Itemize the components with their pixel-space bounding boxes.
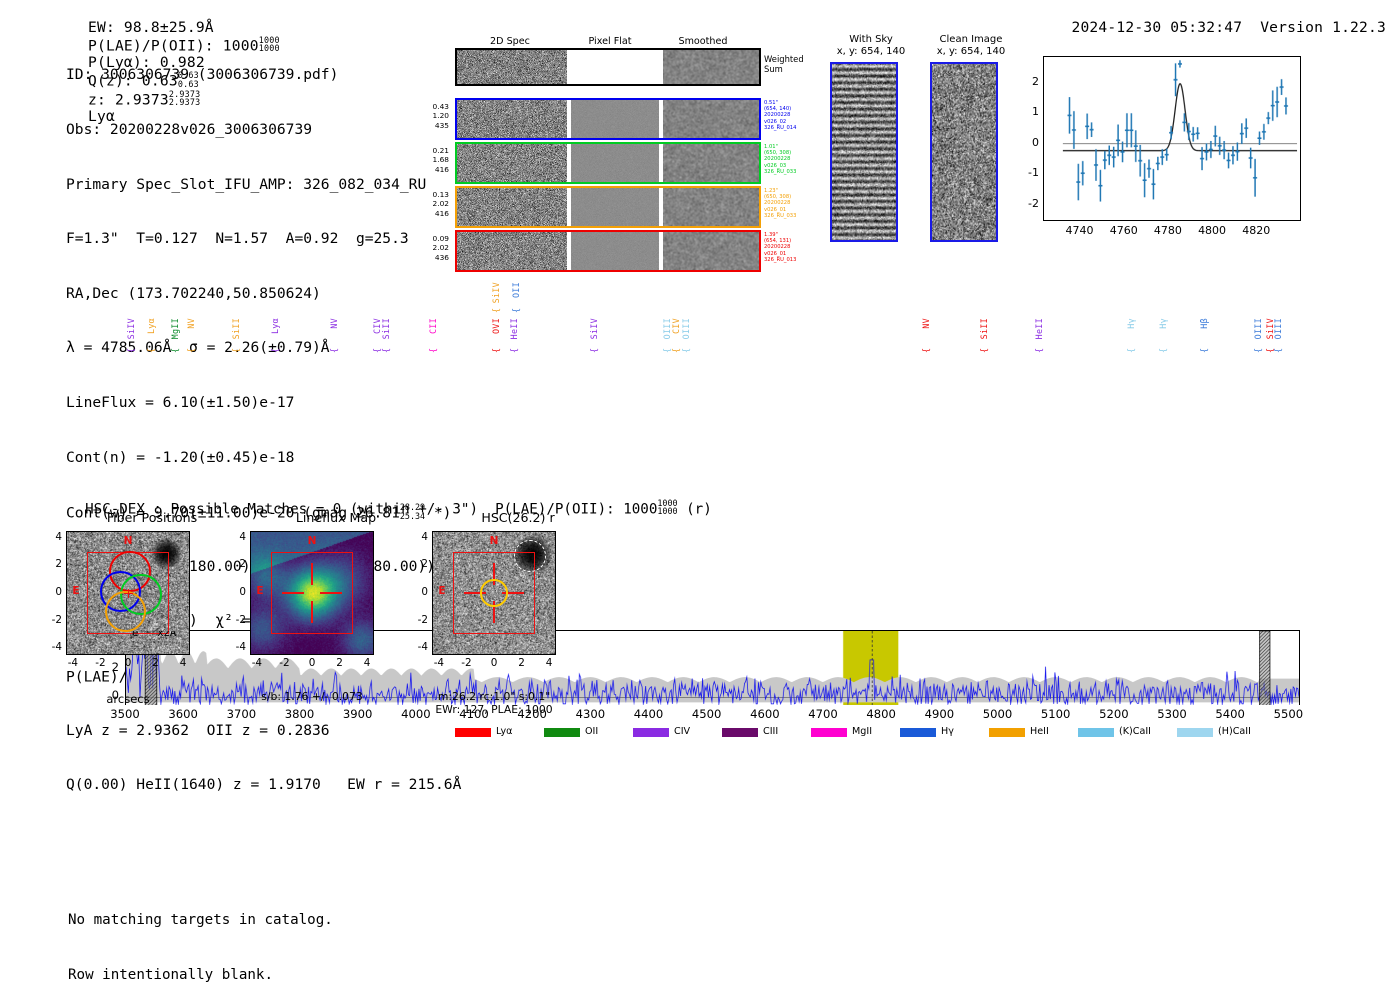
full-spectrum-x-tick: 3700 [213, 707, 269, 721]
map-y-tick: -2 [42, 614, 62, 626]
emission-line-label-siii: SiII [231, 318, 241, 339]
line-fit-y-tick: -2 [1021, 197, 1039, 210]
full-spectrum-x-tick: 4800 [853, 707, 909, 721]
spec2d-smoothed-image [663, 144, 759, 182]
emission-line-label-heii: HeII [509, 318, 519, 339]
emission-line-label-siii: SiII [381, 318, 391, 339]
map-caption-lineflux: s/b: 1.76 +/- 0.073 [232, 690, 392, 703]
line-fit-plot: e⁻¹⁷x2Å [1043, 56, 1301, 221]
full-spectrum-x-tick: 5300 [1144, 707, 1200, 721]
line-fit-y-tick: 1 [1021, 105, 1039, 118]
footer-block: No matching targets in catalog. Row inte… [68, 874, 333, 1003]
footer-line-1: No matching targets in catalog. [68, 911, 333, 929]
emission-line-bracket: { [329, 348, 339, 353]
full-spectrum-x-tick: 4600 [737, 707, 793, 721]
spec2d-fiber-row [455, 230, 761, 272]
map-y-tick: -4 [42, 641, 62, 653]
info-primary: Primary Spec_Slot_IFU_AMP: 326_082_034_R… [66, 176, 461, 194]
emission-line-label-lyα: Lyα [270, 318, 280, 334]
legend-label-civ: CIV [674, 726, 690, 737]
line-fit-x-tick: 4740 [1062, 224, 1098, 237]
emission-line-bracket: { [1253, 348, 1263, 353]
line-fit-x-tick: 4820 [1238, 224, 1274, 237]
legend-label-oii: OII [585, 726, 598, 737]
spec2d-panel: 2D Spec Pixel Flat Smoothed Weighted Sum… [455, 36, 765, 251]
map-lineflux: Lineflux Map [246, 510, 426, 525]
line-fit-y-tick: 2 [1021, 75, 1039, 88]
spec2d-col-title-2dspec: 2D Spec [455, 36, 565, 47]
full-spectrum-x-tick: 3800 [272, 707, 328, 721]
emission-line-label-heii: HeII [1034, 318, 1044, 339]
map-title-lineflux: Lineflux Map [246, 510, 426, 525]
full-spectrum-x-tick: 5100 [1028, 707, 1084, 721]
legend-label-heii: HeII [1030, 726, 1049, 737]
hscdex-fraction: 10001000 [657, 499, 677, 516]
emission-line-label-mgii: MgII [170, 318, 180, 339]
line-fit-y-tick: -1 [1021, 166, 1039, 179]
header-timestamp-version: 2024-12-30 05:32:47 Version 1.22.3 [1053, 2, 1386, 36]
legend-swatch-hcaii [1177, 728, 1213, 737]
spec2d-2dspec-image [457, 232, 567, 270]
full-spectrum-x-tick: 4500 [679, 707, 735, 721]
header-version: Version 1.22.3 [1260, 19, 1386, 36]
emission-line-bracket: { [511, 308, 521, 313]
spec2d-flat-grey [571, 144, 659, 182]
legend-swatch-oii [544, 728, 580, 737]
legend-swatch-mgii [811, 728, 847, 737]
full-spectrum-x-tick: 5000 [970, 707, 1026, 721]
emission-line-bracket: { [681, 348, 691, 353]
cutout-title-clean-image: Clean Image [928, 34, 1014, 46]
info-id: ID: 3006306739 (3006306739.pdf) [66, 66, 461, 84]
legend-label-kcaii: (K)CaII [1119, 726, 1151, 737]
emission-line-label-nv: NV [329, 318, 339, 329]
legend-label-hcaii: (H)CaII [1218, 726, 1251, 737]
map-hsc: HSC(26.2) r [428, 510, 608, 525]
footer-line-2: Row intentionally blank. [68, 966, 333, 984]
emission-line-label-ovi: OVI [491, 318, 501, 334]
spec2d-row-left-values: 0.43 1.20 435 [413, 102, 449, 130]
full-spectrum-plot: SiIV{Lyα{MgII{NV{SiII{Lyα{NV{CIV{SiII{CI… [0, 278, 1400, 468]
legend-swatch-heii [989, 728, 1025, 737]
emission-line-bracket: { [231, 348, 241, 353]
emission-line-bracket: { [126, 348, 136, 353]
spec2d-row-right-metadata: 1.39" (654, 131) 20200228 v026_01 326_RU… [764, 232, 796, 263]
spec2d-col-title-pixelflat: Pixel Flat [565, 36, 655, 47]
emission-line-bracket: { [491, 308, 501, 313]
line-fit-x-tick: 4760 [1106, 224, 1142, 237]
emission-line-label-civ: CIV [671, 318, 681, 334]
emission-line-label-siiv: SiIV [589, 318, 599, 339]
info-qline: Q(0.00) HeII(1640) z = 1.9170 EW r = 215… [66, 776, 461, 794]
line-fit-x-tick: 4800 [1194, 224, 1230, 237]
emission-line-bracket: { [381, 348, 391, 353]
legend-swatch-kcaii [1078, 728, 1114, 737]
cutout-with-sky: With Sky x, y: 654, 140 [828, 34, 914, 58]
emission-line-label-siiv: SiIV [491, 282, 501, 303]
spec2d-2dspec-image [457, 144, 567, 182]
cutout-subtitle-with-sky: x, y: 654, 140 [828, 46, 914, 58]
map-y-tick: 4 [42, 531, 62, 543]
emission-line-label-cii: CII [428, 318, 438, 334]
legend-label-mgii: MgII [852, 726, 872, 737]
emission-line-bracket: { [671, 348, 681, 353]
emission-line-label-hβ: Hβ [1199, 318, 1209, 329]
emission-line-bracket: { [589, 348, 599, 353]
cutout-image-clean-image [930, 62, 998, 242]
emission-line-label-oiii: OIII [1253, 318, 1263, 339]
spec2d-fiber-row [455, 98, 761, 140]
full-spectrum-x-tick: 3600 [155, 707, 211, 721]
spec2d-smoothed-image [663, 188, 759, 226]
spec2d-fiber-row [455, 186, 761, 228]
spec2d-2dspec-image [457, 50, 567, 84]
legend-swatch-ciii [722, 728, 758, 737]
lineflux-map-image [250, 531, 374, 655]
spec2d-flat-grey [571, 100, 659, 138]
info-seeing: F=1.3" T=0.127 N=1.57 A=0.92 g=25.3 [66, 230, 461, 248]
legend-swatch-hγ [900, 728, 936, 737]
map-xlabel-fiber: arcsecs [66, 692, 190, 706]
emission-line-label-oii: OII [511, 282, 521, 298]
emission-line-bracket: { [1034, 348, 1044, 353]
spec2d-weighted-sum-label: Weighted Sum [764, 54, 804, 74]
spec2d-row-left-values: 0.21 1.68 416 [413, 146, 449, 174]
legend-label-lyα: Lyα [496, 726, 512, 737]
spec2d-smoothed-image [663, 50, 759, 84]
cutout-clean-image: Clean Image x, y: 654, 140 [928, 34, 1014, 58]
emission-line-bracket: { [186, 348, 196, 353]
emission-line-label-nv: NV [921, 318, 931, 329]
spec2d-row-right-metadata: 1.23" (650, 308) 20200228 v026_01 326_RU… [764, 188, 796, 219]
spec2d-2dspec-image [457, 100, 567, 138]
spec2d-flat-grey [571, 232, 659, 270]
cutout-image-with-sky [830, 62, 898, 242]
cutout-title-with-sky: With Sky [828, 34, 914, 46]
emission-line-bracket: { [1199, 348, 1209, 353]
legend-label-ciii: CIII [763, 726, 778, 737]
emission-line-label-hγ: Hγ [1158, 318, 1168, 329]
spec2d-flat-blank [571, 50, 659, 84]
emission-line-bracket: { [146, 348, 156, 353]
emission-line-bracket: { [921, 348, 931, 353]
emission-line-bracket: { [1126, 348, 1136, 353]
spec2d-flat-grey [571, 188, 659, 226]
cutout-subtitle-clean-image: x, y: 654, 140 [928, 46, 1014, 58]
full-spectrum-x-tick: 4700 [795, 707, 851, 721]
full-spectrum-x-tick: 3900 [330, 707, 386, 721]
emission-line-bracket: { [270, 348, 280, 353]
map-fiber-positions: Fiber Positions [62, 510, 242, 525]
map-y-tick: 0 [42, 586, 62, 598]
emission-line-label-siii: SiII [979, 318, 989, 339]
map-caption-hsc-2: EWr: 127, PLAE: 1000 [414, 703, 574, 716]
line-fit-y-tick: 0 [1021, 136, 1039, 149]
full-spectrum-x-tick: 4400 [621, 707, 677, 721]
emission-line-bracket: { [509, 348, 519, 353]
legend-swatch-lyα [455, 728, 491, 737]
emission-line-label-host: SiIV{Lyα{MgII{NV{SiII{Lyα{NV{CIV{SiII{CI… [0, 278, 1400, 354]
full-spectrum-x-tick: 3500 [97, 707, 153, 721]
spec2d-weighted-sum-row [455, 48, 761, 86]
map-title-fiber-positions: Fiber Positions [62, 510, 242, 525]
full-spectrum-x-tick: 5500 [1260, 707, 1316, 721]
map-caption-hsc-1: m:26.2 rc:1.0" s:0.1" [414, 690, 574, 703]
hsc-image [432, 531, 556, 655]
full-spectrum-y-tick: 2 [99, 660, 119, 674]
emission-line-label-hγ: Hγ [1126, 318, 1136, 329]
emission-line-bracket: { [170, 348, 180, 353]
spec2d-col-title-smoothed: Smoothed [653, 36, 753, 47]
spec2d-row-right-metadata: 1.01" (650, 308) 20200228 v026_03 326_RU… [764, 144, 796, 175]
emission-line-label-oiii: OIII [1273, 318, 1283, 339]
emission-line-label-siiv: SiIV [126, 318, 136, 339]
spec2d-fiber-row [455, 142, 761, 184]
spec2d-smoothed-image [663, 232, 759, 270]
full-spectrum-x-tick: 5400 [1202, 707, 1258, 721]
line-fit-x-tick: 4780 [1150, 224, 1186, 237]
info-zlines: LyA z = 2.9362 OII z = 0.2836 [66, 722, 461, 740]
legend-label-hγ: Hγ [941, 726, 954, 737]
emission-line-bracket: { [1158, 348, 1168, 353]
spec2d-row-left-values: 0.09 2.02 436 [413, 234, 449, 262]
spec2d-2dspec-image [457, 188, 567, 226]
full-spectrum-annotation: e⁻¹⁷x2Å [132, 630, 176, 639]
legend-swatch-civ [633, 728, 669, 737]
emission-line-label-nv: NV [186, 318, 196, 329]
full-spectrum-x-tick: 4900 [911, 707, 967, 721]
map-y-tick: 2 [42, 558, 62, 570]
header-timestamp: 2024-12-30 05:32:47 [1071, 19, 1242, 36]
spec2d-smoothed-image [663, 100, 759, 138]
emission-line-label-lyα: Lyα [146, 318, 156, 334]
spec2d-row-right-metadata: 0.51" (654, 140) 20200228 v026_02 326_RU… [764, 100, 796, 131]
hscdex-suffix: (r) [686, 501, 712, 517]
emission-line-bracket: { [491, 348, 501, 353]
full-spectrum-x-tick: 5200 [1086, 707, 1142, 721]
emission-line-label-oiii: OIII [681, 318, 691, 339]
info-obs: Obs: 20200228v026_3006306739 [66, 121, 461, 139]
emission-line-bracket: { [428, 348, 438, 353]
map-title-hsc: HSC(26.2) r [428, 510, 608, 525]
emission-line-bracket: { [1273, 348, 1283, 353]
emission-line-bracket: { [979, 348, 989, 353]
spec2d-row-left-values: 0.13 2.02 416 [413, 190, 449, 218]
